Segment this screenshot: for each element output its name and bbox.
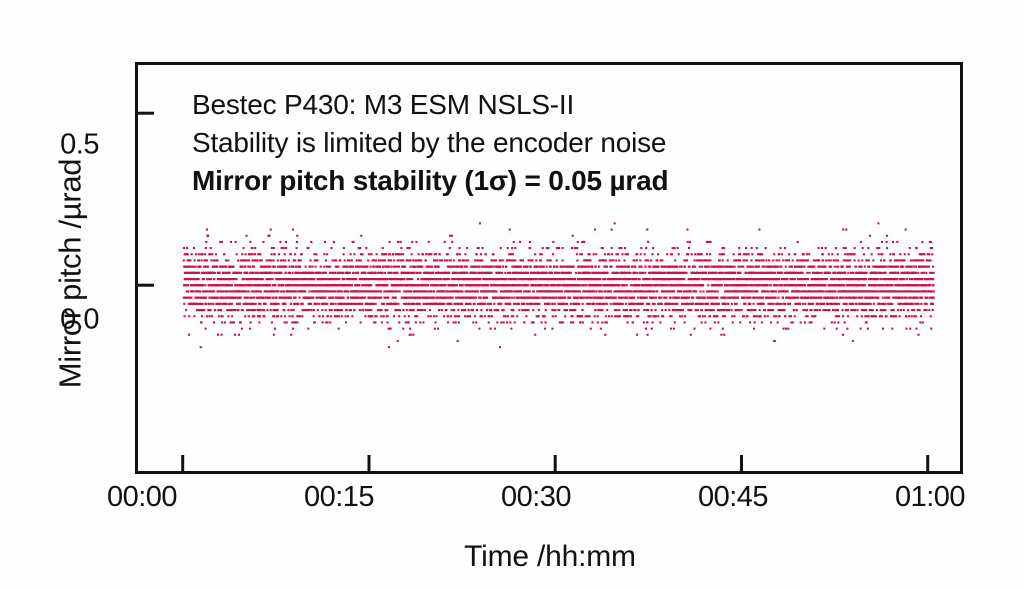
x-tick-label-1: 00:15	[304, 483, 374, 512]
x-tick-label-2: 00:30	[501, 483, 571, 512]
x-tick-label-3: 00:45	[698, 483, 768, 512]
annotation-line-1: Bestec P430: M3 ESM NSLS-II	[192, 86, 832, 124]
annotation-line-3: Mirror pitch stability (1σ) = 0.05 µrad	[192, 162, 832, 200]
scatter-points-group	[183, 222, 935, 348]
x-axis-label: Time /hh:mm	[330, 542, 770, 572]
annotation-block: Bestec P430: M3 ESM NSLS-II Stability is…	[192, 86, 832, 200]
annotation-line-2: Stability is limited by the encoder nois…	[192, 124, 832, 162]
x-tick-label-0: 00:00	[107, 483, 177, 512]
y-tick-label-0: 0.0	[60, 306, 99, 335]
figure-canvas: Mirror pitch /µrad 0.0 0.5 00:00 00:15 0…	[0, 0, 1024, 589]
y-tick-label-1: 0.5	[60, 131, 99, 160]
x-tick-label-4: 01:00	[895, 483, 965, 512]
